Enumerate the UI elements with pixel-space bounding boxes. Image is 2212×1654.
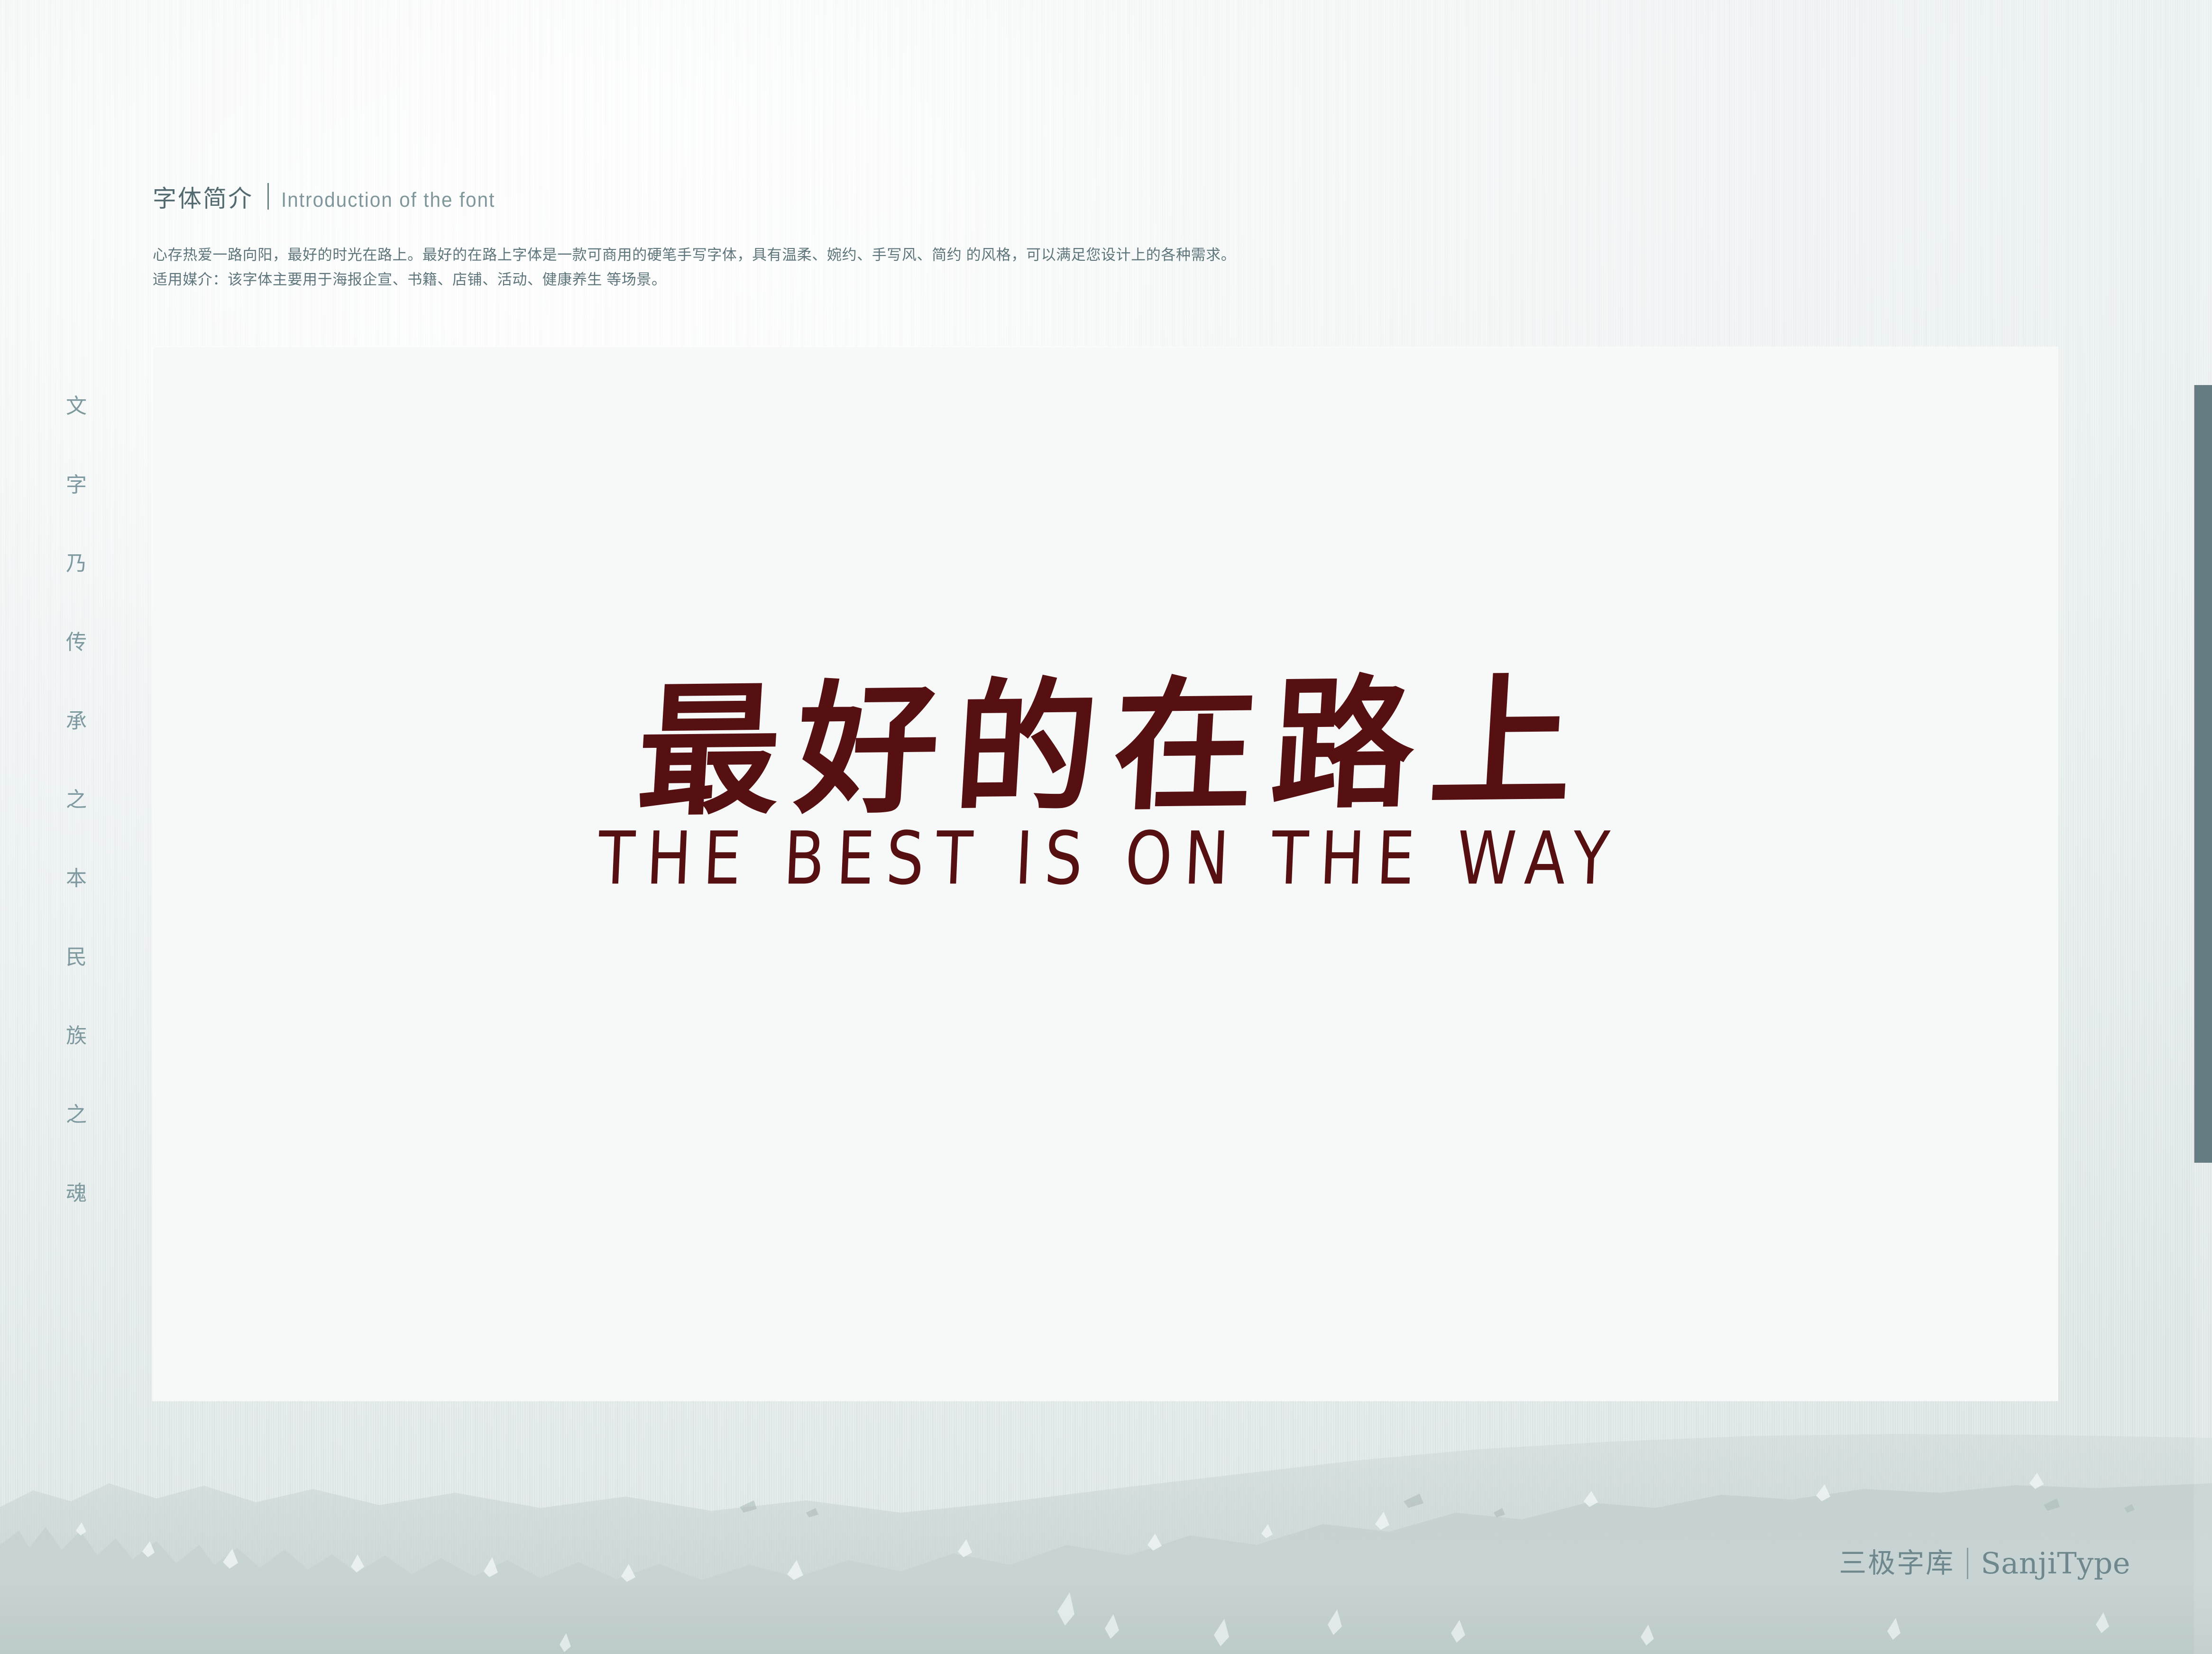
specimen-headline-cn: 最好的在路上 bbox=[148, 664, 2063, 829]
header-row: 字体简介 Introduction of the font bbox=[153, 180, 1765, 211]
scrollbar-track[interactable] bbox=[2194, 0, 2212, 1654]
vertical-caption-char: 本 bbox=[66, 868, 87, 889]
vertical-caption-char: 之 bbox=[66, 790, 87, 810]
section-header: 字体简介 Introduction of the font bbox=[153, 180, 1765, 211]
vertical-caption-char: 族 bbox=[66, 1026, 87, 1047]
vertical-caption-char: 字 bbox=[66, 475, 87, 496]
font-description: 心存热爱一路向阳，最好的时光在路上。最好的在路上字体是一款可商用的硬笔手写字体，… bbox=[153, 243, 2002, 292]
vertical-caption-char: 民 bbox=[66, 947, 87, 968]
ink-wash-decoration bbox=[0, 1388, 2212, 1654]
vertical-caption-char: 乃 bbox=[66, 553, 87, 574]
brand-logo: 三极字库 SanjiType bbox=[1839, 1548, 2130, 1579]
specimen-content: 最好的在路上 THE BEST IS ON THE WAY bbox=[153, 674, 2058, 882]
brand-name-cn: 三极字库 bbox=[1839, 1550, 1955, 1577]
description-line-1: 心存热爱一路向阳，最好的时光在路上。最好的在路上字体是一款可商用的硬笔手写字体，… bbox=[153, 243, 2002, 267]
specimen-headline-en: THE BEST IS ON THE WAY bbox=[149, 822, 2058, 895]
vertical-caption: 文 字 乃 传 承 之 本 民 族 之 魂 bbox=[56, 396, 97, 1204]
section-title-cn: 字体简介 bbox=[153, 187, 253, 211]
vertical-caption-char: 之 bbox=[66, 1104, 87, 1125]
vertical-caption-char: 魂 bbox=[66, 1183, 87, 1204]
brand-divider bbox=[1967, 1548, 1968, 1579]
brand-name-en: SanjiType bbox=[1981, 1549, 2130, 1578]
scrollbar-thumb[interactable] bbox=[2194, 385, 2212, 1163]
specimen-card: 最好的在路上 THE BEST IS ON THE WAY bbox=[153, 347, 2058, 1401]
section-title-en: Introduction of the font bbox=[281, 190, 495, 211]
header-divider bbox=[267, 183, 269, 210]
font-specimen-page: 字体简介 Introduction of the font 心存热爱一路向阳，最… bbox=[0, 0, 2212, 1654]
vertical-caption-char: 承 bbox=[66, 711, 87, 732]
description-line-2: 适用媒介：该字体主要用于海报企宣、书籍、店铺、活动、健康养生 等场景。 bbox=[153, 267, 2002, 292]
vertical-caption-char: 文 bbox=[66, 396, 87, 417]
vertical-caption-char: 传 bbox=[66, 632, 87, 653]
